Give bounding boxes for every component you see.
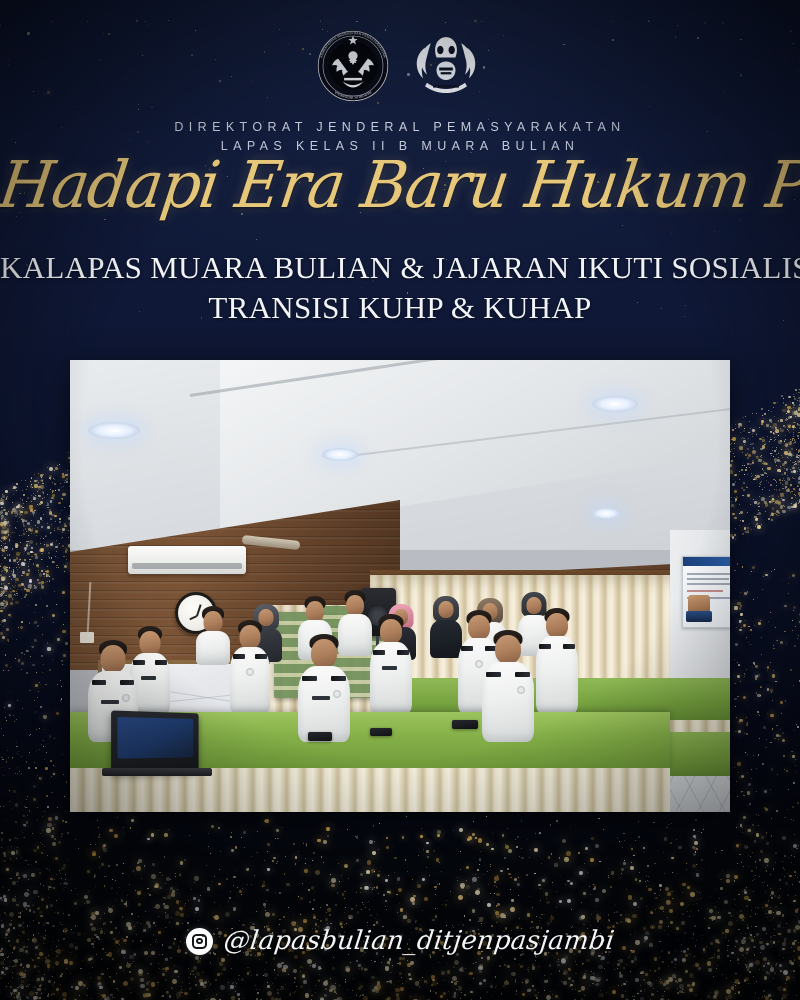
glitter-particle	[756, 692, 758, 694]
glitter-particle	[731, 439, 732, 440]
glitter-particle	[129, 988, 130, 989]
glitter-particle	[781, 713, 782, 714]
glitter-particle	[793, 455, 794, 456]
glitter-particle	[10, 616, 11, 617]
glitter-particle	[793, 900, 796, 903]
glitter-particle	[633, 855, 635, 857]
glitter-particle	[787, 444, 788, 445]
glitter-particle	[753, 479, 755, 481]
glitter-particle	[9, 801, 10, 802]
glitter-particle	[770, 431, 771, 432]
glitter-particle	[3, 806, 4, 807]
glitter-particle	[18, 877, 20, 879]
glitter-particle	[2, 621, 3, 622]
glitter-particle	[765, 511, 766, 512]
glitter-particle	[198, 899, 201, 902]
glitter-particle	[3, 895, 6, 898]
glitter-particle	[40, 598, 41, 599]
glitter-particle	[68, 537, 69, 538]
glitter-particle	[392, 965, 393, 966]
glitter-particle	[147, 982, 148, 983]
glitter-particle	[60, 975, 62, 977]
glitter-particle	[65, 550, 68, 553]
glitter-particle	[143, 993, 147, 997]
glitter-particle	[9, 839, 11, 841]
glitter-particle	[739, 620, 742, 623]
glitter-particle	[595, 844, 599, 848]
glitter-particle	[401, 977, 402, 978]
glitter-particle	[753, 662, 755, 664]
glitter-particle	[795, 497, 796, 498]
glitter-particle	[285, 971, 286, 972]
glitter-particle	[773, 978, 775, 980]
glitter-particle	[131, 913, 133, 915]
glitter-particle	[487, 903, 492, 908]
glitter-particle	[16, 639, 17, 640]
glitter-particle	[459, 828, 463, 832]
glitter-particle	[6, 904, 7, 905]
glitter-particle	[130, 992, 131, 993]
glitter-particle	[37, 504, 38, 505]
glitter-particle	[138, 972, 143, 977]
glitter-particle	[790, 669, 791, 670]
glitter-particle	[220, 905, 221, 906]
glitter-particle	[770, 662, 771, 663]
glitter-particle	[738, 985, 739, 986]
glitter-particle	[747, 494, 750, 497]
glitter-particle	[687, 886, 690, 889]
glitter-particle	[47, 823, 51, 827]
glitter-particle	[98, 836, 101, 839]
glitter-particle	[793, 434, 794, 435]
glitter-particle	[399, 972, 402, 975]
glitter-particle	[567, 880, 569, 882]
glitter-particle	[323, 862, 324, 863]
glitter-particle	[779, 479, 781, 481]
glitter-particle	[194, 876, 199, 881]
glitter-particle	[551, 921, 552, 922]
glitter-particle	[753, 755, 754, 756]
glitter-particle	[34, 700, 35, 701]
glitter-particle	[744, 465, 745, 466]
glitter-particle	[589, 886, 590, 887]
glitter-particle	[743, 438, 744, 439]
glitter-particle	[63, 889, 64, 890]
instagram-icon[interactable]	[186, 928, 213, 955]
glitter-particle	[479, 858, 481, 860]
glitter-particle	[46, 957, 47, 958]
glitter-particle	[138, 859, 143, 864]
glitter-particle	[37, 491, 38, 492]
glitter-particle	[30, 526, 31, 527]
glitter-particle	[648, 20, 650, 22]
glitter-particle	[490, 864, 491, 865]
glitter-particle	[650, 986, 651, 987]
glitter-particle	[733, 984, 734, 985]
glitter-particle	[579, 871, 583, 875]
glitter-particle	[750, 428, 751, 429]
glitter-particle	[735, 985, 736, 986]
glitter-particle	[798, 409, 799, 410]
glitter-particle	[792, 438, 793, 439]
glitter-particle	[766, 739, 767, 740]
glitter-particle	[230, 985, 233, 988]
glitter-particle	[735, 498, 737, 500]
glitter-particle	[99, 986, 103, 990]
glitter-particle	[4, 518, 5, 519]
glitter-particle	[276, 829, 279, 832]
glitter-particle	[26, 544, 29, 547]
glitter-particle	[423, 849, 424, 850]
glitter-particle	[1, 545, 2, 546]
glitter-particle	[618, 960, 619, 961]
glitter-particle	[44, 759, 45, 760]
glitter-particle	[535, 960, 536, 961]
glitter-particle	[775, 500, 779, 504]
glitter-particle	[625, 991, 626, 992]
glitter-particle	[669, 909, 673, 913]
glitter-particle	[527, 839, 528, 840]
glitter-particle	[759, 483, 760, 484]
glitter-particle	[34, 484, 38, 488]
glitter-particle	[392, 967, 393, 968]
glitter-particle	[750, 629, 752, 631]
glitter-particle	[397, 912, 398, 913]
glitter-particle	[33, 920, 34, 921]
glitter-particle	[2, 548, 3, 549]
glitter-particle	[4, 523, 6, 525]
glitter-particle	[767, 670, 768, 671]
glitter-particle	[174, 970, 178, 974]
glitter-particle	[778, 453, 779, 454]
glitter-particle	[6, 514, 8, 516]
glitter-particle	[464, 915, 466, 917]
glitter-particle	[473, 821, 474, 822]
glitter-particle	[536, 916, 537, 917]
glitter-particle	[223, 967, 226, 970]
glitter-particle	[704, 22, 706, 24]
glitter-particle	[758, 459, 761, 462]
glitter-particle	[21, 857, 22, 858]
glitter-particle	[732, 513, 734, 515]
glitter-particle	[635, 978, 639, 982]
glitter-particle	[496, 914, 500, 918]
glitter-particle	[540, 888, 541, 889]
glitter-particle	[558, 961, 559, 962]
glitter-particle	[519, 918, 520, 919]
glitter-particle	[596, 916, 600, 920]
glitter-particle	[38, 970, 41, 973]
glitter-particle	[356, 836, 358, 838]
glitter-particle	[324, 994, 327, 997]
glitter-particle	[59, 464, 60, 465]
glitter-particle	[91, 912, 95, 916]
glitter-particle	[12, 502, 13, 503]
glitter-particle	[26, 541, 27, 542]
glitter-particle	[31, 477, 32, 478]
glitter-particle	[777, 459, 779, 461]
glitter-particle	[779, 895, 780, 896]
glitter-particle	[4, 568, 7, 571]
glitter-particle	[28, 541, 29, 542]
glitter-particle	[758, 622, 761, 625]
glitter-particle	[502, 834, 505, 837]
glitter-particle	[654, 893, 655, 894]
glitter-particle	[780, 888, 781, 889]
glitter-particle	[764, 976, 768, 980]
glitter-particle	[763, 957, 767, 961]
glitter-particle	[749, 523, 750, 524]
glitter-particle	[32, 528, 33, 529]
glitter-particle	[339, 881, 340, 882]
glitter-particle	[27, 486, 28, 487]
glitter-particle	[668, 958, 669, 959]
glitter-particle	[28, 566, 29, 567]
glitter-particle	[64, 882, 67, 885]
glitter-particle	[651, 993, 654, 996]
glitter-particle	[63, 486, 64, 487]
glitter-particle	[780, 493, 781, 494]
glitter-particle	[23, 815, 25, 817]
glitter-particle	[446, 900, 447, 901]
glitter-particle	[783, 478, 784, 479]
glitter-particle	[741, 791, 743, 793]
glitter-particle	[18, 875, 19, 876]
glitter-particle	[3, 536, 6, 539]
glitter-particle	[788, 490, 789, 491]
glitter-particle	[64, 612, 65, 613]
glitter-particle	[9, 568, 10, 569]
glitter-particle	[424, 897, 428, 901]
glitter-particle	[722, 22, 723, 23]
glitter-particle	[713, 976, 714, 977]
glitter-particle	[39, 749, 40, 750]
glitter-particle	[558, 959, 559, 960]
glitter-particle	[794, 980, 795, 981]
glitter-particle	[423, 996, 424, 997]
glitter-particle	[797, 435, 799, 437]
glitter-particle	[429, 875, 430, 876]
glitter-particle	[792, 806, 794, 808]
glitter-particle	[566, 851, 571, 856]
glitter-particle	[41, 551, 42, 552]
glitter-particle	[62, 992, 67, 997]
glitter-particle	[730, 470, 734, 474]
glitter-particle	[34, 612, 35, 613]
glitter-particle	[47, 964, 50, 967]
glitter-particle	[79, 995, 80, 996]
glitter-particle	[785, 435, 786, 436]
glitter-particle	[693, 829, 695, 831]
glitter-particle	[784, 480, 785, 481]
glitter-particle	[50, 489, 51, 490]
glitter-particle	[757, 907, 759, 909]
glitter-particle	[103, 844, 106, 847]
glitter-particle	[419, 986, 420, 987]
glitter-particle	[95, 886, 96, 887]
glitter-particle	[38, 582, 41, 585]
glitter-particle	[793, 436, 794, 437]
glitter-particle	[792, 884, 793, 885]
glitter-particle	[15, 578, 19, 582]
glitter-particle	[753, 876, 755, 878]
glitter-particle	[787, 424, 791, 428]
glitter-particle	[28, 893, 29, 894]
glitter-particle	[664, 837, 668, 841]
glitter-particle	[53, 478, 55, 480]
glitter-particle	[769, 501, 771, 503]
glitter-particle	[176, 992, 181, 997]
glitter-particle	[772, 700, 773, 701]
glitter-particle	[63, 624, 64, 625]
glitter-particle	[265, 910, 266, 911]
glitter-particle	[40, 504, 41, 505]
glitter-particle	[48, 886, 51, 889]
glitter-particle	[732, 483, 734, 485]
glitter-particle	[779, 964, 782, 967]
glitter-particle	[175, 876, 176, 877]
glitter-particle	[784, 474, 785, 475]
glitter-particle	[256, 852, 257, 853]
glitter-particle	[49, 511, 53, 515]
glitter-particle	[794, 834, 796, 836]
glitter-particle	[456, 981, 457, 982]
glitter-particle	[335, 983, 336, 984]
glitter-particle	[126, 901, 127, 902]
glitter-particle	[7, 528, 9, 530]
glitter-particle	[784, 440, 785, 441]
glitter-particle	[357, 911, 359, 913]
glitter-particle	[587, 988, 588, 989]
glitter-particle	[9, 966, 10, 967]
glitter-particle	[54, 912, 56, 914]
glitter-particle	[383, 894, 385, 896]
glitter-particle	[761, 497, 765, 501]
glitter-particle	[162, 973, 165, 976]
glitter-particle	[408, 973, 411, 976]
glitter-particle	[9, 567, 10, 568]
glitter-particle	[167, 895, 171, 899]
glitter-particle	[496, 893, 499, 896]
glitter-particle	[683, 992, 684, 993]
glitter-particle	[14, 532, 15, 533]
glitter-particle	[757, 694, 760, 697]
glitter-particle	[14, 992, 16, 994]
glitter-particle	[64, 959, 69, 964]
glitter-particle	[10, 602, 13, 605]
glitter-particle	[673, 857, 674, 858]
glitter-particle	[399, 957, 403, 961]
officer-name-tag	[141, 676, 156, 680]
glitter-particle	[793, 505, 794, 506]
glitter-particle	[10, 858, 12, 860]
glitter-particle	[794, 462, 795, 463]
glitter-particle	[15, 896, 16, 897]
glitter-particle	[20, 626, 23, 629]
glitter-particle	[360, 873, 363, 876]
glitter-particle	[711, 916, 715, 920]
glitter-particle	[1, 847, 2, 848]
glitter-particle	[251, 884, 252, 885]
officer-head	[140, 631, 161, 655]
glitter-particle	[29, 505, 32, 508]
glitter-particle	[8, 704, 11, 707]
glitter-particle	[247, 972, 250, 975]
glitter-particle	[791, 408, 792, 409]
glitter-particle	[789, 577, 790, 578]
glitter-particle	[27, 796, 28, 797]
glitter-particle	[610, 886, 612, 888]
glitter-particle	[744, 673, 745, 674]
glitter-particle	[525, 981, 528, 984]
glitter-particle	[257, 992, 259, 994]
glitter-particle	[214, 876, 215, 877]
glitter-particle	[41, 519, 42, 520]
glitter-particle	[300, 985, 302, 987]
glitter-particle	[28, 563, 29, 564]
glitter-particle	[61, 924, 62, 925]
glitter-particle	[791, 456, 792, 457]
glitter-particle	[307, 959, 312, 964]
glitter-particle	[13, 989, 17, 993]
glitter-particle	[670, 842, 672, 844]
glitter-particle	[739, 607, 741, 609]
glitter-particle	[32, 905, 33, 906]
glitter-particle	[780, 493, 784, 497]
glitter-particle	[466, 880, 467, 881]
glitter-particle	[39, 504, 40, 505]
glitter-particle	[46, 905, 49, 908]
glitter-particle	[305, 993, 310, 998]
glitter-particle	[788, 442, 791, 445]
glitter-particle	[769, 501, 771, 503]
glitter-particle	[207, 887, 211, 891]
glitter-particle	[47, 642, 48, 643]
glitter-particle	[158, 916, 159, 917]
glitter-particle	[148, 973, 149, 974]
glitter-particle	[747, 463, 749, 465]
glitter-particle	[385, 906, 386, 907]
glitter-particle	[47, 526, 50, 529]
glitter-particle	[506, 980, 507, 981]
officer-epaulette	[255, 654, 267, 659]
glitter-particle	[775, 427, 778, 430]
glitter-particle	[767, 467, 770, 470]
instagram-handle[interactable]: @lapasbulian_ditjenpasjambi	[222, 926, 616, 956]
officer-badge	[246, 668, 254, 676]
glitter-particle	[22, 571, 26, 575]
instagram-footer[interactable]: @lapasbulian_ditjenpasjambi	[0, 926, 800, 956]
glitter-particle	[742, 919, 745, 922]
glitter-particle	[596, 914, 599, 917]
glitter-particle	[682, 913, 684, 915]
glitter-particle	[200, 982, 204, 986]
glitter-particle	[436, 979, 437, 980]
glitter-particle	[472, 882, 473, 883]
glitter-particle	[21, 583, 22, 584]
glitter-particle	[422, 910, 423, 911]
glitter-particle	[687, 911, 688, 912]
glitter-particle	[263, 903, 265, 905]
glitter-particle	[759, 486, 760, 487]
glitter-particle	[542, 879, 545, 882]
glitter-particle	[54, 562, 55, 563]
glitter-particle	[43, 746, 44, 747]
glitter-particle	[135, 966, 136, 967]
glitter-particle	[780, 482, 781, 483]
glitter-particle	[418, 855, 419, 856]
glitter-particle	[538, 833, 539, 834]
